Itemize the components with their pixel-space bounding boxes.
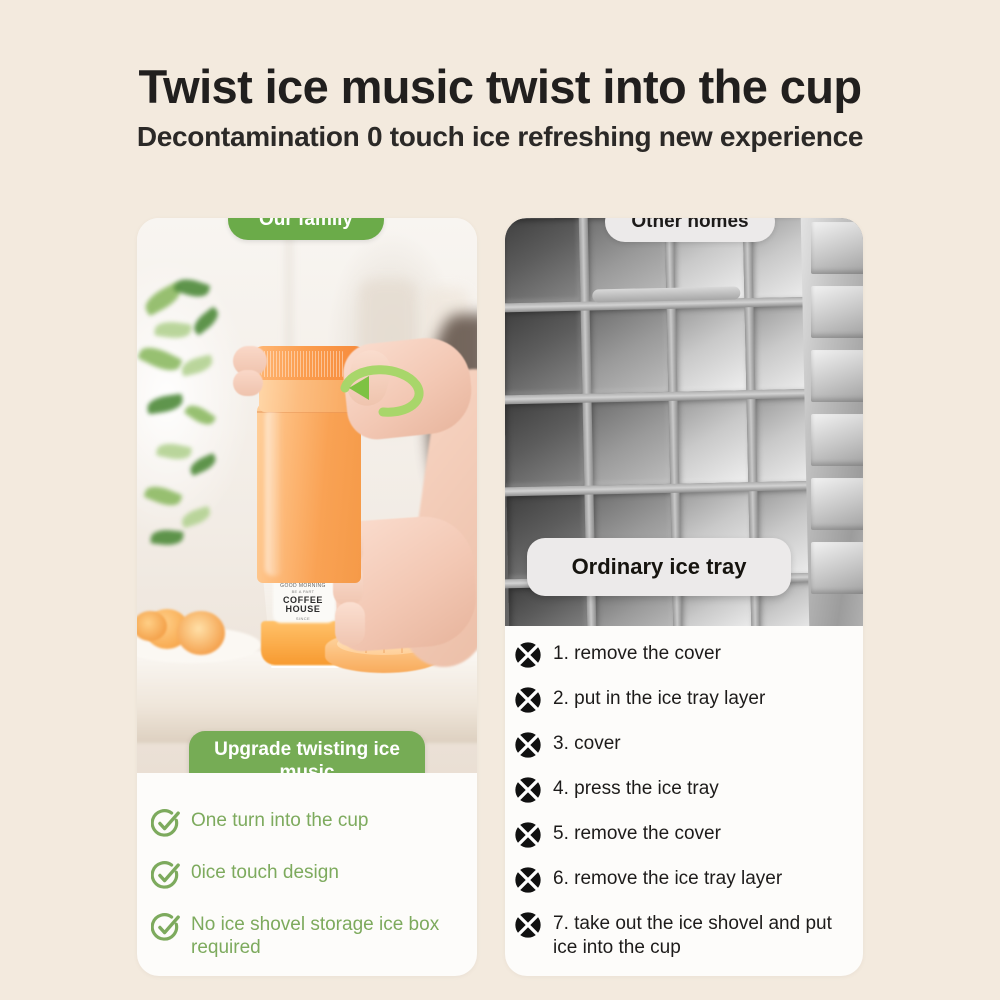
- comparison-cards: GOOD MORNING BE A PART COFFEE HOUSE SINC…: [137, 218, 863, 976]
- tray-cell: [675, 306, 747, 391]
- cup-label: GOOD MORNING BE A PART COFFEE HOUSE SINC…: [265, 584, 341, 622]
- badge-upgrade-label: Upgrade twisting ice music: [189, 739, 425, 773]
- list-item: 4. press the ice tray: [513, 775, 851, 805]
- check-circle-icon: [151, 860, 181, 890]
- badge-upgrade-twisting: Upgrade twisting ice music: [189, 731, 425, 773]
- page-title: Twist ice music twist into the cup: [0, 62, 1000, 111]
- badge-ordinary-ice-tray: Ordinary ice tray: [527, 538, 791, 596]
- x-circle-icon: [513, 865, 543, 895]
- finger: [233, 370, 263, 396]
- orange-slice: [177, 611, 225, 655]
- check-circle-icon: [151, 912, 181, 942]
- pros-list: One turn into the cup 0ice touch design …: [137, 808, 477, 976]
- body-highlight: [265, 408, 283, 576]
- x-circle-icon: [513, 775, 543, 805]
- list-item: One turn into the cup: [151, 808, 461, 838]
- ice-tray-photo: Other homes Ordinary ice tray: [505, 218, 863, 626]
- our-family-card: GOOD MORNING BE A PART COFFEE HOUSE SINC…: [137, 218, 477, 976]
- tray-cell: [811, 222, 863, 274]
- cup-label-top: GOOD MORNING: [265, 584, 341, 589]
- con-item-label: 5. remove the cover: [553, 820, 721, 846]
- list-item: 6. remove the ice tray layer: [513, 865, 851, 895]
- cup-label-sub: SINCE: [265, 617, 341, 621]
- pro-item-label: 0ice touch design: [191, 860, 339, 884]
- list-item: 2. put in the ice tray layer: [513, 685, 851, 715]
- con-item-label: 3. cover: [553, 730, 621, 756]
- tray-cell: [505, 218, 580, 303]
- pro-item-label: One turn into the cup: [191, 808, 368, 832]
- cup-label-main: COFFEE HOUSE: [265, 596, 341, 615]
- tray-cell: [811, 414, 863, 466]
- tray-cell: [811, 478, 863, 530]
- finger: [335, 602, 365, 646]
- badge-our-family: Our family: [228, 218, 384, 240]
- page-header: Twist ice music twist into the cup Decon…: [0, 62, 1000, 153]
- badge-other-homes-label: Other homes: [631, 218, 748, 233]
- list-item: 3. cover: [513, 730, 851, 760]
- tray-cell: [811, 542, 863, 594]
- list-item: 1. remove the cover: [513, 640, 851, 670]
- list-item: 5. remove the cover: [513, 820, 851, 850]
- badge-our-family-label: Our family: [259, 218, 353, 231]
- x-circle-icon: [513, 730, 543, 760]
- tray-cell: [591, 400, 671, 486]
- list-item: 7. take out the ice shovel and put ice i…: [513, 910, 851, 959]
- other-homes-card: Other homes Ordinary ice tray 1. remove …: [505, 218, 863, 976]
- con-item-label: 4. press the ice tray: [553, 775, 719, 801]
- cup-label-mid: BE A PART: [265, 590, 341, 594]
- check-circle-icon: [151, 808, 181, 838]
- page-subtitle: Decontamination 0 touch ice refreshing n…: [0, 121, 1000, 153]
- x-circle-icon: [513, 820, 543, 850]
- con-item-label: 7. take out the ice shovel and put ice i…: [553, 910, 851, 959]
- tray-cell: [505, 402, 584, 488]
- tray-cell: [811, 286, 863, 338]
- badge-other-homes: Other homes: [605, 218, 775, 242]
- x-circle-icon: [513, 910, 543, 940]
- tray-cell: [811, 350, 863, 402]
- tray-cell: [677, 398, 749, 483]
- list-item: No ice shovel storage ice box required: [151, 912, 461, 959]
- pro-item-label: No ice shovel storage ice box required: [191, 912, 461, 959]
- twist-arrow-icon: [323, 358, 429, 420]
- list-item: 0ice touch design: [151, 860, 461, 890]
- product-photo: GOOD MORNING BE A PART COFFEE HOUSE SINC…: [137, 218, 477, 773]
- tray-cell: [589, 308, 669, 394]
- tray-cell: [505, 310, 582, 396]
- con-item-label: 2. put in the ice tray layer: [553, 685, 765, 711]
- x-circle-icon: [513, 685, 543, 715]
- badge-ordinary-label: Ordinary ice tray: [572, 554, 747, 580]
- cons-list: 1. remove the cover 2. put in the ice tr…: [505, 626, 863, 974]
- con-item-label: 6. remove the ice tray layer: [553, 865, 782, 891]
- con-item-label: 1. remove the cover: [553, 640, 721, 666]
- x-circle-icon: [513, 640, 543, 670]
